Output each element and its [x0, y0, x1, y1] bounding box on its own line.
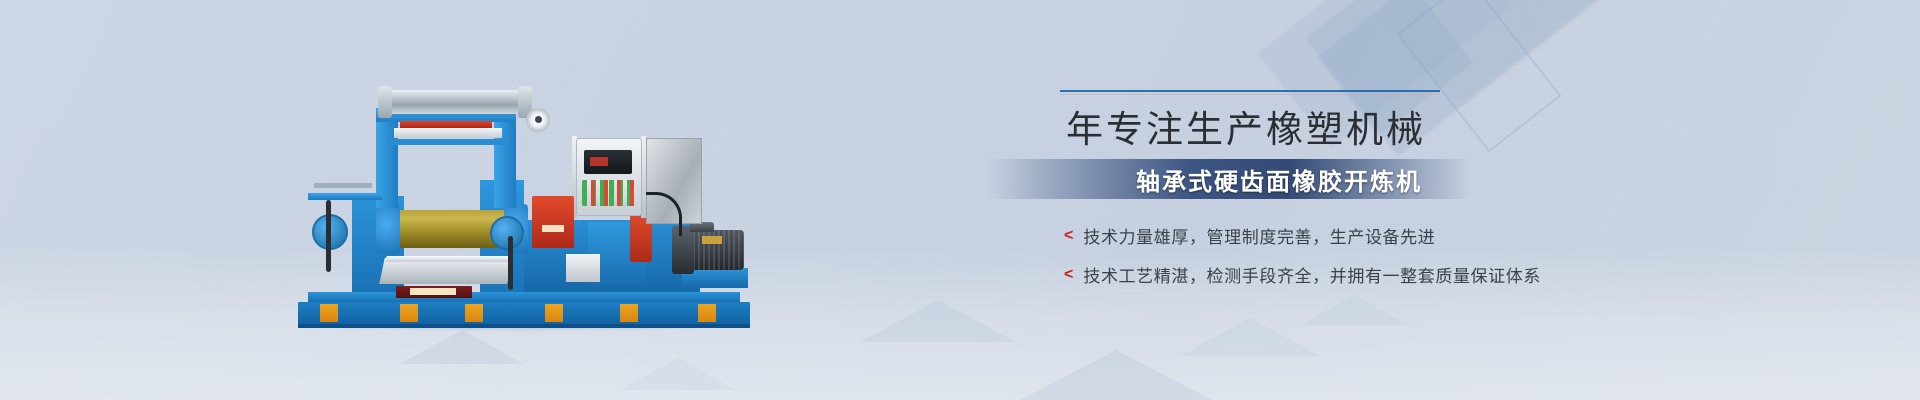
- machine-illustration: [290, 96, 750, 328]
- machine-base-plate: [298, 302, 750, 324]
- machine-roller-steel: [386, 90, 524, 114]
- machine-foot: [465, 304, 483, 322]
- machine-red-box-label: [542, 225, 564, 232]
- machine-roller-steel-cap-left: [378, 86, 392, 118]
- machine-foot: [698, 304, 716, 322]
- machine-base-rail: [308, 292, 740, 302]
- list-item: < 技术工艺精湛，检测手段齐全，并拥有一整套质量保证体系: [1064, 262, 1760, 287]
- chevron-left-icon: <: [1064, 228, 1073, 244]
- machine-white-bar: [394, 128, 502, 138]
- machine-name-plate-label: [410, 288, 456, 295]
- feature-list: < 技术力量雄厚，管理制度完善，生产设备先进 < 技术工艺精湛，检测手段齐全，并…: [1060, 223, 1760, 287]
- decorative-shard-4: [1180, 318, 1320, 356]
- list-item: < 技术力量雄厚，管理制度完善，生产设备先进: [1064, 223, 1760, 248]
- headline-divider-blue: [1060, 90, 1440, 92]
- subtitle-text: 轴承式硬齿面橡胶开炼机: [1136, 162, 1422, 197]
- machine-red-bar: [400, 121, 492, 128]
- page-title: 年专注生产橡塑机械: [1060, 109, 1760, 150]
- machine-side-arm-rod: [314, 183, 372, 188]
- machine-blue-bar: [390, 139, 510, 145]
- decorative-shard-6: [620, 358, 736, 390]
- decorative-shard-1: [400, 330, 524, 364]
- machine-bearing-right: [490, 216, 524, 250]
- machine-motor-plate: [702, 236, 722, 244]
- banner-content: 年专注生产橡塑机械 轴承式硬齿面橡胶开炼机 < 技术力量雄厚，管理制度完善，生产…: [1060, 90, 1760, 301]
- machine-foot: [545, 304, 563, 322]
- decorative-shard-2: [860, 300, 1016, 342]
- machine-stand-right: [494, 108, 516, 208]
- headline-divider-light: [1060, 94, 1440, 95]
- chevron-left-icon: <: [1064, 267, 1073, 283]
- promo-banner: 年专注生产橡塑机械 轴承式硬齿面橡胶开炼机 < 技术力量雄厚，管理制度完善，生产…: [0, 0, 1920, 400]
- machine-pipe-left: [326, 200, 331, 272]
- machine-gear-housing: [566, 254, 600, 282]
- machine-tray-lip: [385, 256, 510, 262]
- decorative-shard-3: [1020, 350, 1212, 400]
- machine-foot: [320, 304, 338, 322]
- machine-roller-cap-left: [376, 204, 400, 254]
- machine-pipe-bottom: [508, 236, 513, 290]
- machine-handwheel-hub: [535, 116, 542, 123]
- subtitle-band: 轴承式硬齿面橡胶开炼机: [988, 159, 1472, 199]
- product-image-rubber-mixing-mill: [290, 96, 750, 328]
- machine-red-control-box: [532, 196, 574, 248]
- machine-panel-display: [584, 150, 632, 174]
- machine-foot: [400, 304, 418, 322]
- list-item-label: 技术工艺精湛，检测手段齐全，并拥有一整套质量保证体系: [1083, 262, 1541, 287]
- list-item-label: 技术力量雄厚，管理制度完善，生产设备先进: [1083, 223, 1435, 248]
- machine-side-arm: [308, 193, 382, 200]
- machine-foot: [620, 304, 638, 322]
- machine-panel-buttons-red: [582, 180, 636, 206]
